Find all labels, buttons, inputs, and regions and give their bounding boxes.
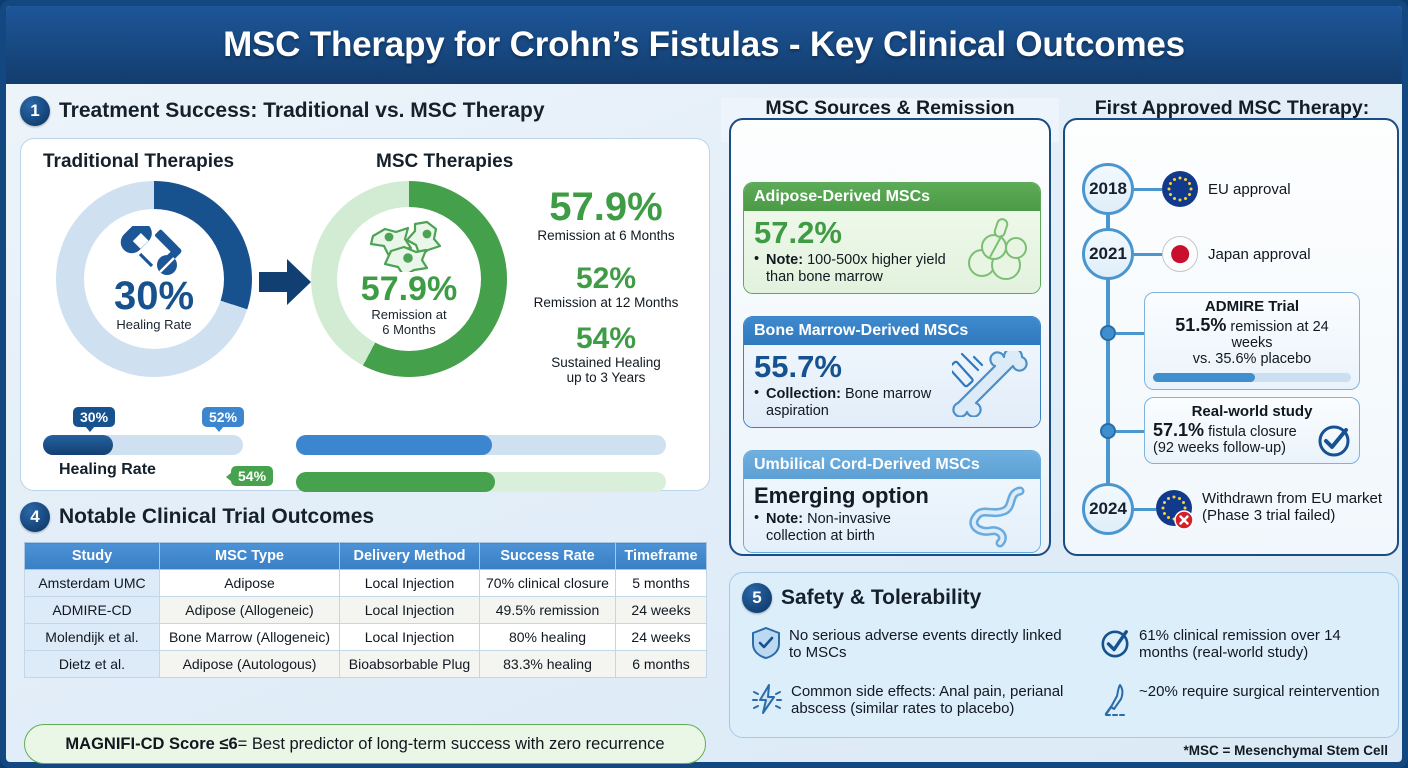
stat-remission-6mo: 57.9% Remission at 6 Months (508, 187, 704, 243)
bar-sustained-track (296, 472, 666, 492)
stat-remission-12mo: 52% Remission at 12 Months (508, 264, 704, 310)
stat-value: 54% (508, 324, 704, 354)
source-adipose-note: Note: 100-500x higher yield than bone ma… (754, 252, 954, 285)
cell-study: ADMIRE-CD (25, 597, 160, 624)
safety-item-text: No serious adverse events directly linke… (789, 627, 1062, 662)
pill-syringe-icon (118, 226, 190, 276)
bar-msc12-fill (296, 435, 492, 455)
section-clinical-trials: 4 Notable Clinical Trial Outcomes Study … (20, 502, 710, 532)
check-circle-icon (1317, 424, 1351, 458)
safety-item-text: Common side effects: Anal pain, perianal… (791, 683, 1064, 718)
bar-msc12-tag: 52% (202, 407, 244, 427)
timeline-year-2021: 2021 (1082, 228, 1134, 280)
section1-title-row: 1 Treatment Success: Traditional vs. MSC… (20, 96, 710, 126)
magnifi-score: MAGNIFI-CD Score ≤6 (65, 735, 237, 754)
donut-msc-value: 57.9% (361, 272, 457, 306)
timeline-year-2024: 2024 (1082, 483, 1134, 535)
stat-label: Remission at 12 Months (508, 295, 704, 310)
safety-item-clinical-remission: 61% clinical remission over 14 months (r… (1100, 627, 1390, 662)
table-header-row: Study MSC Type Delivery Method Success R… (25, 543, 707, 570)
section-safety: 5 Safety & Tolerability No serious adver… (729, 572, 1399, 738)
section5-title: Safety & Tolerability (781, 586, 981, 610)
source-adipose-heading: Adipose-Derived MSCs (744, 183, 1040, 211)
source-adipose: Adipose-Derived MSCs 57.2% Note: 100-500… (743, 182, 1041, 294)
timeline-dot-admire (1100, 325, 1116, 341)
magnifi-text: = Best predictor of long-term success wi… (238, 735, 665, 754)
donut-traditional: 30% Healing Rate (56, 181, 252, 377)
bone-syringe-icon (952, 351, 1034, 417)
col-success-rate: Success Rate (480, 543, 616, 570)
fat-cells-icon (956, 217, 1034, 283)
donut-traditional-content: 30% Healing Rate (56, 181, 252, 377)
bar-sustained-tag: 54% (231, 466, 273, 486)
safety-item-text: ~20% require surgical reintervention (1139, 683, 1380, 700)
section4-number-badge: 4 (20, 502, 50, 532)
source-bone-marrow: Bone Marrow-Derived MSCs 55.7% Collectio… (743, 316, 1041, 428)
page-header: MSC Therapy for Crohn’s Fistulas - Key C… (6, 6, 1402, 84)
source-bone-marrow-body: 55.7% Collection: Bone marrow aspiration (744, 345, 1040, 427)
cell-success: 83.3% healing (480, 651, 616, 678)
cell-success: 49.5% remission (480, 597, 616, 624)
cell-study: Amsterdam UMC (25, 570, 160, 597)
umbilical-cord-icon (958, 485, 1034, 549)
cell-delivery: Bioabsorbable Plug (340, 651, 480, 678)
cell-success: 70% clinical closure (480, 570, 616, 597)
section5-number-badge: 5 (742, 583, 772, 613)
admire-body: 51.5% remission at 24 weeksvs. 35.6% pla… (1153, 315, 1351, 368)
safety-item-side-effects: Common side effects: Anal pain, perianal… (752, 683, 1064, 718)
eu-flag-icon (1162, 171, 1198, 207)
section4-title-row: 4 Notable Clinical Trial Outcomes (20, 502, 710, 532)
section1-number-badge: 1 (20, 96, 50, 126)
eu-flag-withdrawn-icon (1156, 490, 1196, 530)
bar-traditional-track (43, 435, 243, 455)
admire-heading: ADMIRE Trial (1153, 298, 1351, 315)
infographic-root: MSC Therapy for Crohn’s Fistulas - Key C… (0, 0, 1408, 768)
col-msc-type: MSC Type (160, 543, 340, 570)
cell-msc-type: Adipose (Autologous) (160, 651, 340, 678)
cell-msc-type: Adipose (Allogeneic) (160, 597, 340, 624)
table-row: Molendijk et al. Bone Marrow (Allogeneic… (25, 624, 707, 651)
timeline-text-2021: Japan approval (1208, 246, 1311, 263)
safety-item-reintervention: ~20% require surgical reintervention (1100, 683, 1390, 717)
cell-study: Molendijk et al. (25, 624, 160, 651)
stat-sustained-healing: 54% Sustained Healing up to 3 Years (508, 324, 704, 385)
page-title: MSC Therapy for Crohn’s Fistulas - Key C… (223, 25, 1185, 65)
stat-label: Sustained Healing up to 3 Years (508, 355, 704, 385)
cell-delivery: Local Injection (340, 624, 480, 651)
cell-msc-type: Adipose (160, 570, 340, 597)
table-row: Amsterdam UMC Adipose Local Injection 70… (25, 570, 707, 597)
cell-msc-type: Bone Marrow (Allogeneic) (160, 624, 340, 651)
source-bone-marrow-note: Collection: Bone marrow aspiration (754, 386, 954, 419)
col-study: Study (25, 543, 160, 570)
lightning-icon (752, 683, 782, 715)
admire-bar-fill (1153, 373, 1255, 382)
stat-value: 57.9% (508, 187, 704, 227)
section4-title: Notable Clinical Trial Outcomes (59, 505, 374, 529)
check-circle-icon (1100, 627, 1130, 659)
column-header-msc: MSC Therapies (376, 151, 513, 173)
cell-timeframe: 6 months (616, 651, 707, 678)
table-row: ADMIRE-CD Adipose (Allogeneic) Local Inj… (25, 597, 707, 624)
donut-traditional-value: 30% (114, 276, 194, 316)
col-timeframe: Timeframe (616, 543, 707, 570)
cell-timeframe: 24 weeks (616, 597, 707, 624)
timeline-connector (1116, 430, 1144, 433)
cell-delivery: Local Injection (340, 597, 480, 624)
section-treatment-success: 1 Treatment Success: Traditional vs. MSC… (20, 96, 710, 491)
source-umbilical-note: Note: Non-invasive collection at birth (754, 511, 954, 544)
source-umbilical: Umbilical Cord-Derived MSCs Emerging opt… (743, 450, 1041, 553)
section-msc-sources: Adipose-Derived MSCs 57.2% Note: 100-500… (729, 118, 1051, 556)
safety-item-no-adverse-events: No serious adverse events directly linke… (752, 627, 1062, 662)
magnifi-banner: MAGNIFI-CD Score ≤6 = Best predictor of … (24, 724, 706, 764)
donut-msc: 57.9% Remission at 6 Months (311, 181, 507, 377)
footnote: *MSC = Mesenchymal Stem Cell (1184, 743, 1388, 758)
source-bone-marrow-heading: Bone Marrow-Derived MSCs (744, 317, 1040, 345)
admire-bar-track (1153, 373, 1351, 382)
safety-item-text: 61% clinical remission over 14 months (r… (1139, 627, 1390, 662)
japan-flag-icon (1162, 236, 1198, 272)
source-umbilical-heading: Umbilical Cord-Derived MSCs (744, 451, 1040, 479)
realworld-heading: Real-world study (1153, 403, 1351, 420)
cell-success: 80% healing (480, 624, 616, 651)
column-header-traditional: Traditional Therapies (43, 151, 234, 173)
clinical-trials-table: Study MSC Type Delivery Method Success R… (24, 542, 707, 678)
timeline-connector (1134, 188, 1162, 191)
scalpel-icon (1100, 683, 1130, 717)
eu-stars-icon (1162, 171, 1198, 207)
timeline-connector (1134, 253, 1162, 256)
cell-study: Dietz et al. (25, 651, 160, 678)
donut-msc-content: 57.9% Remission at 6 Months (311, 181, 507, 377)
timeline-text-2018: EU approval (1208, 181, 1291, 198)
cell-delivery: Local Injection (340, 570, 480, 597)
shield-check-icon (752, 627, 780, 659)
stat-value: 52% (508, 264, 704, 294)
bar-healing-rate-label: Healing Rate (59, 461, 156, 479)
stat-label: Remission at 6 Months (508, 228, 704, 243)
timeline-dot-realworld (1100, 423, 1116, 439)
source-umbilical-body: Emerging option Note: Non-invasive colle… (744, 479, 1040, 552)
arrow-right-icon (259, 259, 311, 305)
cell-timeframe: 24 weeks (616, 624, 707, 651)
close-icon (1174, 510, 1194, 530)
stem-cells-icon (365, 220, 453, 272)
timeline-card-admire: ADMIRE Trial 51.5% remission at 24 weeks… (1144, 292, 1360, 390)
timeline-connector (1134, 508, 1156, 511)
cell-timeframe: 5 months (616, 570, 707, 597)
bar-msc12-track (296, 435, 666, 455)
donut-traditional-label: Healing Rate (116, 318, 191, 333)
section1-title: Treatment Success: Traditional vs. MSC T… (59, 99, 545, 123)
timeline-text-2024: Withdrawn from EU market (Phase 3 trial … (1202, 490, 1394, 525)
bar-traditional-tag: 30% (73, 407, 115, 427)
timeline-year-2018: 2018 (1082, 163, 1134, 215)
source-adipose-body: 57.2% Note: 100-500x higher yield than b… (744, 211, 1040, 293)
col-delivery-method: Delivery Method (340, 543, 480, 570)
section1-card: Traditional Therapies MSC Therapies (20, 138, 710, 491)
table-row: Dietz et al. Adipose (Autologous) Bioabs… (25, 651, 707, 678)
bar-sustained-fill (296, 472, 495, 492)
timeline-connector (1116, 332, 1144, 335)
donut-msc-label: Remission at 6 Months (371, 308, 446, 337)
bar-traditional-fill (43, 435, 113, 455)
section5-title-row: 5 Safety & Tolerability (742, 583, 981, 613)
timeline-card-realworld: Real-world study 57.1% fistula closure(9… (1144, 397, 1360, 464)
